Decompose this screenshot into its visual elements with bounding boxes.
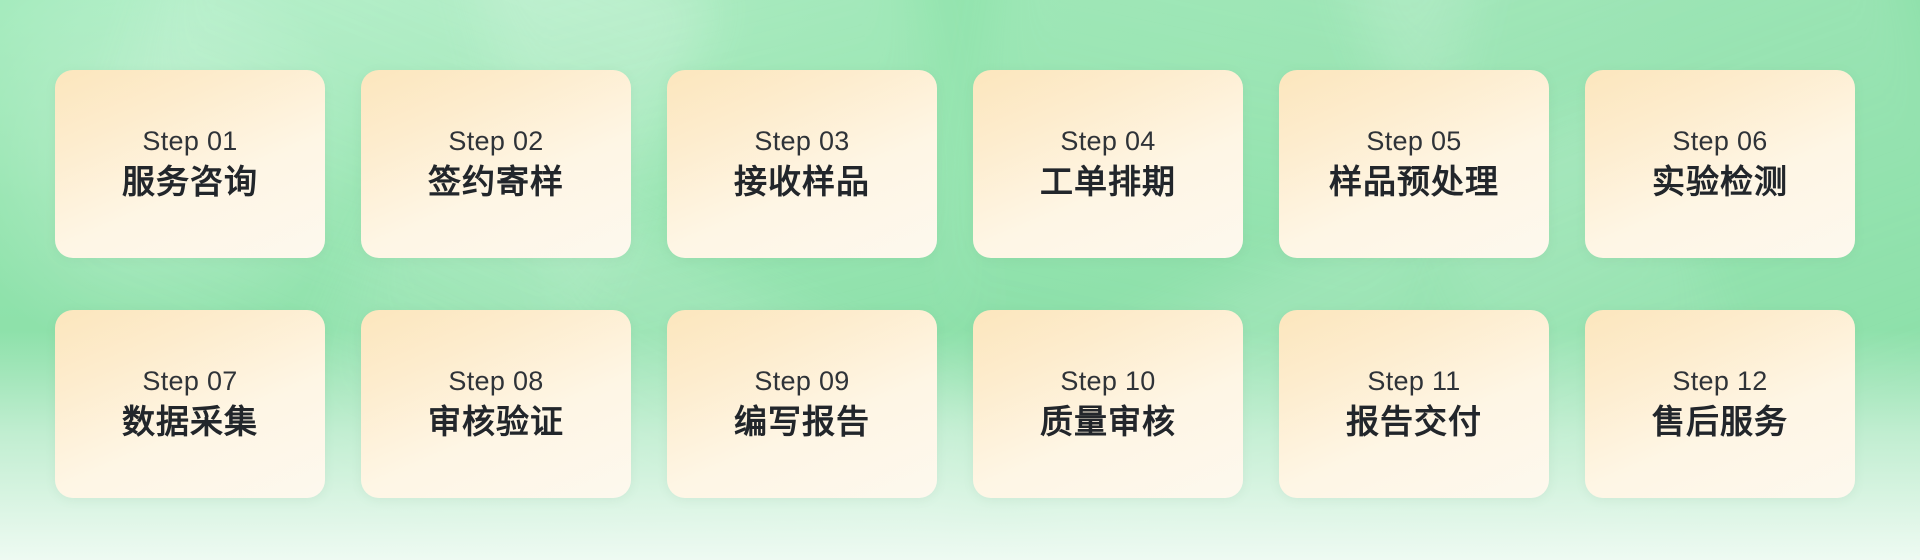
step-title-label: 质量审核 xyxy=(1040,403,1176,441)
step-title-label: 样品预处理 xyxy=(1329,163,1499,201)
step-number-label: Step 02 xyxy=(448,127,543,157)
step-number-label: Step 03 xyxy=(754,127,849,157)
step-number-label: Step 11 xyxy=(1367,367,1460,397)
step-number-label: Step 10 xyxy=(1060,367,1155,397)
step-title-label: 报告交付 xyxy=(1346,403,1482,441)
step-card[interactable]: Step 04工单排期 xyxy=(973,70,1243,258)
step-title-label: 实验检测 xyxy=(1652,163,1788,201)
step-title-label: 工单排期 xyxy=(1040,163,1176,201)
step-card[interactable]: Step 05样品预处理 xyxy=(1279,70,1549,258)
process-step-grid: Step 01服务咨询Step 02签约寄样Step 03接收样品Step 04… xyxy=(55,70,1855,498)
step-title-label: 服务咨询 xyxy=(122,163,258,201)
step-title-label: 数据采集 xyxy=(122,403,258,441)
step-number-label: Step 08 xyxy=(448,367,543,397)
step-title-label: 接收样品 xyxy=(734,163,870,201)
step-number-label: Step 01 xyxy=(142,127,237,157)
step-number-label: Step 09 xyxy=(754,367,849,397)
step-card[interactable]: Step 02签约寄样 xyxy=(361,70,631,258)
step-title-label: 签约寄样 xyxy=(428,163,564,201)
step-title-label: 售后服务 xyxy=(1652,403,1788,441)
step-number-label: Step 07 xyxy=(142,367,237,397)
step-number-label: Step 12 xyxy=(1672,367,1767,397)
step-card[interactable]: Step 12售后服务 xyxy=(1585,310,1855,498)
step-number-label: Step 06 xyxy=(1672,127,1767,157)
step-title-label: 审核验证 xyxy=(428,403,564,441)
step-number-label: Step 05 xyxy=(1366,127,1461,157)
step-card[interactable]: Step 06实验检测 xyxy=(1585,70,1855,258)
step-number-label: Step 04 xyxy=(1060,127,1155,157)
step-card[interactable]: Step 03接收样品 xyxy=(667,70,937,258)
step-title-label: 编写报告 xyxy=(734,403,870,441)
service-process-banner: Step 01服务咨询Step 02签约寄样Step 03接收样品Step 04… xyxy=(0,0,1920,560)
step-card[interactable]: Step 08审核验证 xyxy=(361,310,631,498)
step-card[interactable]: Step 01服务咨询 xyxy=(55,70,325,258)
step-card[interactable]: Step 10质量审核 xyxy=(973,310,1243,498)
step-card[interactable]: Step 11报告交付 xyxy=(1279,310,1549,498)
step-card[interactable]: Step 07数据采集 xyxy=(55,310,325,498)
step-card[interactable]: Step 09编写报告 xyxy=(667,310,937,498)
